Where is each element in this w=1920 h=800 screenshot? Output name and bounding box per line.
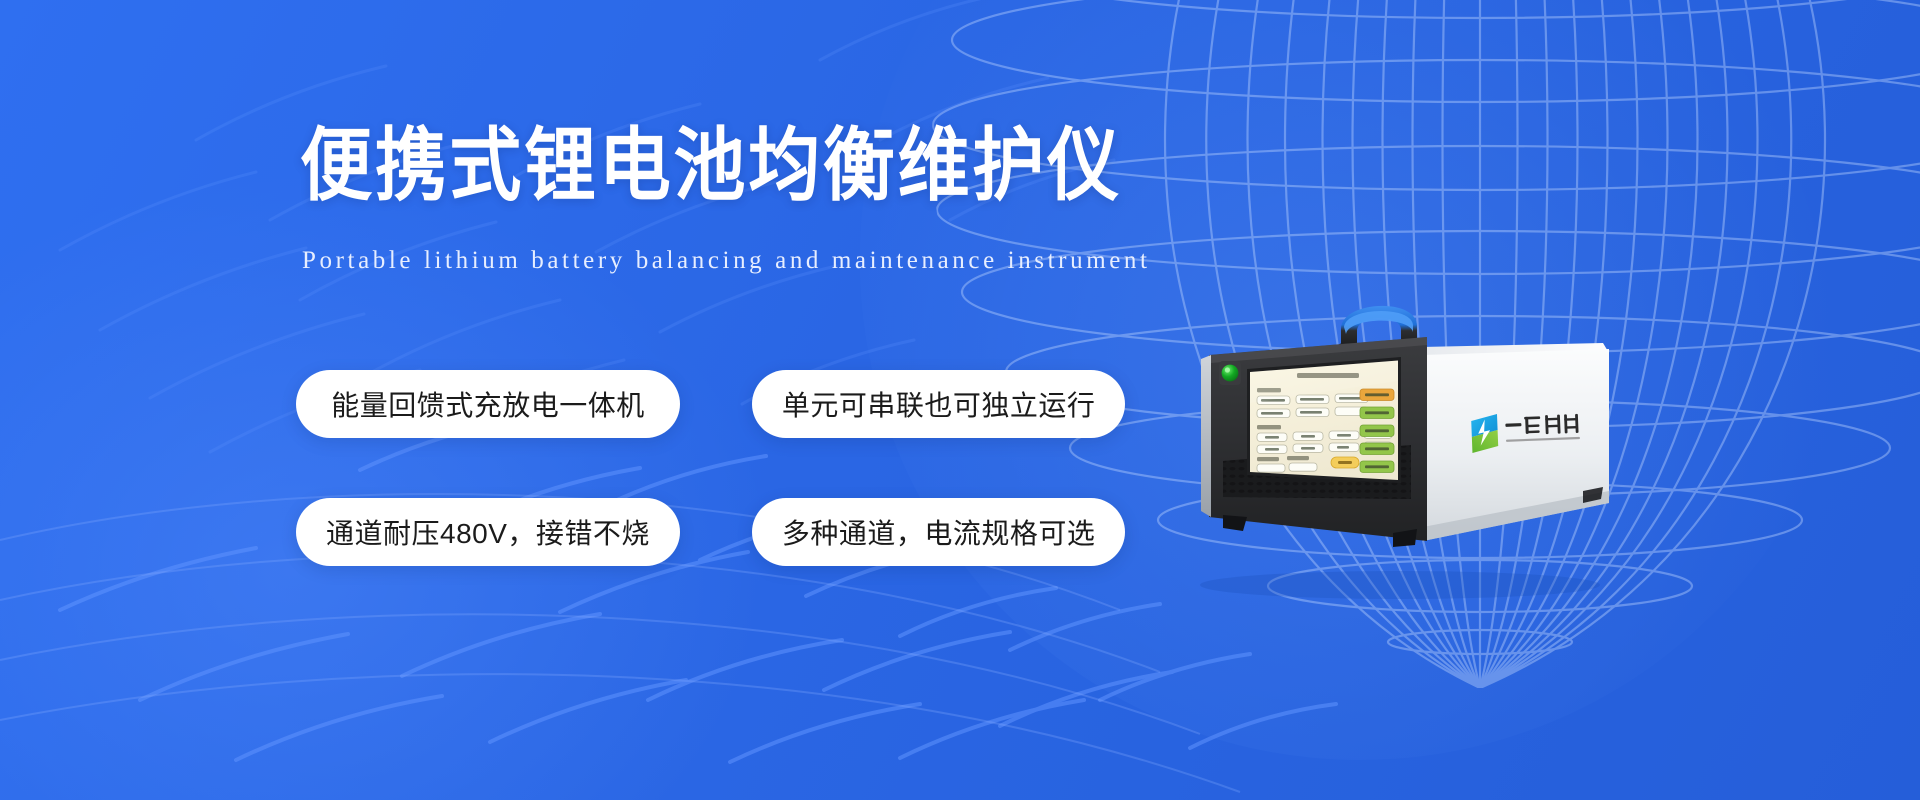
product-device-image xyxy=(1165,285,1635,615)
feature-pill[interactable]: 多种通道，电流规格可选 xyxy=(752,498,1126,566)
feature-pill[interactable]: 能量回馈式充放电一体机 xyxy=(296,370,680,438)
page-title: 便携式锂电池均衡维护仪 xyxy=(300,126,1122,206)
feature-pill[interactable]: 通道耐压480V，接错不烧 xyxy=(296,498,680,566)
screen-action-button xyxy=(1331,457,1359,468)
device-touchscreen xyxy=(1247,357,1401,483)
page-subtitle: Portable lithium battery balancing and m… xyxy=(302,247,1151,275)
hero-banner: 便携式锂电池均衡维护仪 Portable lithium battery bal… xyxy=(0,0,1920,800)
power-indicator xyxy=(1219,361,1241,385)
feature-pill[interactable]: 单元可串联也可独立运行 xyxy=(752,370,1126,438)
feature-pill-group: 能量回馈式充放电一体机 单元可串联也可独立运行 通道耐压480V，接错不烧 多种… xyxy=(296,370,1125,566)
